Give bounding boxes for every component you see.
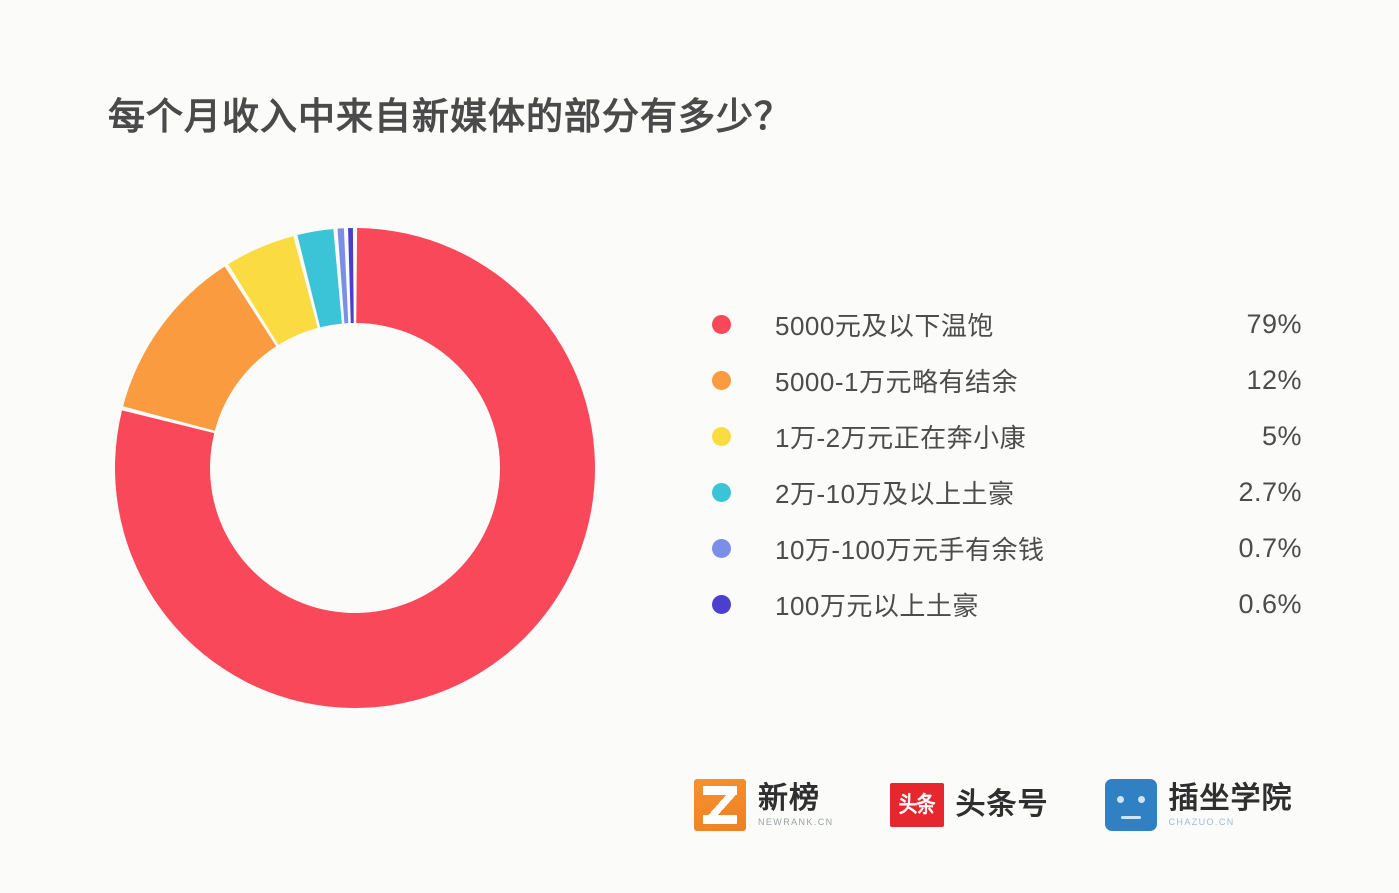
logo-newrank: 新榜 NEWRANK.CN <box>694 775 834 835</box>
legend-item-value: 2.7% <box>1184 477 1302 508</box>
legend-item-value: 0.7% <box>1184 533 1302 564</box>
toutiao-badge-icon: 头条 <box>890 783 944 827</box>
legend-item-label: 5000-1万元略有结余 <box>775 362 1184 399</box>
legend-item[interactable]: 100万元以上土豪0.6% <box>712 576 1302 632</box>
logo-toutiaohao: 头条 头条号 <box>890 775 1049 835</box>
legend-item-label: 5000元及以下温饱 <box>775 306 1184 343</box>
newrank-text-block: 新榜 NEWRANK.CN <box>758 783 834 828</box>
logo-chazuo: 插坐学院 CHAZUO.CN <box>1105 775 1293 835</box>
legend-item-label: 10万-100万元手有余钱 <box>775 530 1184 567</box>
legend-dot-indigo <box>712 595 731 614</box>
newrank-mark-icon <box>694 779 746 831</box>
chazuo-subtitle: CHAZUO.CN <box>1169 817 1293 827</box>
chazuo-mark-icon <box>1105 779 1157 831</box>
legend-item[interactable]: 5000-1万元略有结余12% <box>712 352 1302 408</box>
legend-dot-red <box>712 315 731 334</box>
legend-item[interactable]: 2万-10万及以上土豪2.7% <box>712 464 1302 520</box>
legend-item-value: 12% <box>1184 365 1302 396</box>
donut-slices <box>115 228 595 708</box>
legend-item-label: 100万元以上土豪 <box>775 586 1184 623</box>
toutiao-badge-text: 头条 <box>899 794 935 816</box>
chazuo-eye-left-icon <box>1117 796 1124 803</box>
slide-canvas: 每个月收入中来自新媒体的部分有多少？ 5000元及以下温饱79%5000-1万元… <box>0 0 1399 893</box>
legend-item[interactable]: 5000元及以下温饱79% <box>712 296 1302 352</box>
donut-chart <box>113 226 597 710</box>
legend-item-value: 5% <box>1184 421 1302 452</box>
donut-slice[interactable] <box>348 228 354 323</box>
page-title: 每个月收入中来自新媒体的部分有多少？ <box>108 86 792 140</box>
chazuo-mouth-icon <box>1121 816 1141 819</box>
legend-item[interactable]: 1万-2万元正在奔小康5% <box>712 408 1302 464</box>
toutiaohao-name: 头条号 <box>956 789 1049 821</box>
legend-item[interactable]: 10万-100万元手有余钱0.7% <box>712 520 1302 576</box>
chazuo-name: 插坐学院 <box>1169 783 1293 815</box>
legend-item-label: 2万-10万及以上土豪 <box>775 474 1184 511</box>
legend-item-label: 1万-2万元正在奔小康 <box>775 418 1184 455</box>
donut-chart-svg <box>113 226 597 710</box>
chazuo-eye-right-icon <box>1138 796 1145 803</box>
legend-item-value: 79% <box>1184 309 1302 340</box>
legend-dot-orange <box>712 371 731 390</box>
legend-dot-cyan <box>712 483 731 502</box>
chazuo-text-block: 插坐学院 CHAZUO.CN <box>1169 783 1293 828</box>
legend-item-value: 0.6% <box>1184 589 1302 620</box>
chart-legend: 5000元及以下温饱79%5000-1万元略有结余12%1万-2万元正在奔小康5… <box>712 296 1302 632</box>
toutiaohao-text-block: 头条号 <box>956 789 1049 821</box>
newrank-name: 新榜 <box>758 783 834 815</box>
legend-dot-yellow <box>712 427 731 446</box>
footer-logo-bar: 新榜 NEWRANK.CN 头条 头条号 插坐学院 CHAZUO.CN <box>694 768 1293 842</box>
newrank-subtitle: NEWRANK.CN <box>758 817 834 827</box>
legend-dot-periwinkle <box>712 539 731 558</box>
